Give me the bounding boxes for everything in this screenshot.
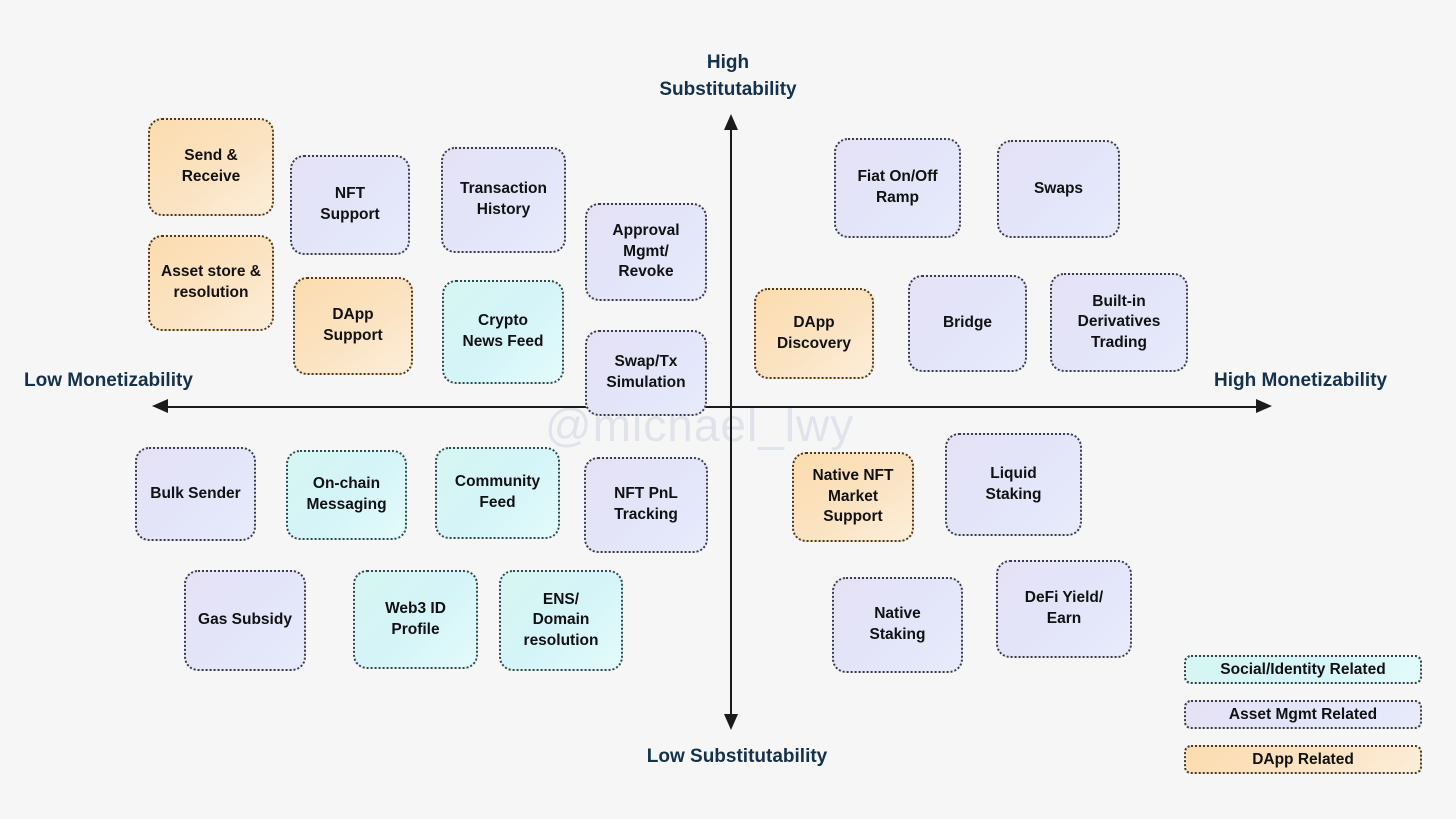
feature-card: Bridge: [908, 275, 1027, 372]
feature-card: Fiat On/Off Ramp: [834, 138, 961, 238]
feature-card: DApp Discovery: [754, 288, 874, 379]
feature-card: Native Staking: [832, 577, 963, 673]
legend: Social/Identity RelatedAsset Mgmt Relate…: [1184, 655, 1422, 774]
feature-card: Transaction History: [441, 147, 566, 253]
axis-label-bottom: Low Substitutability: [627, 744, 847, 771]
feature-card: DeFi Yield/ Earn: [996, 560, 1132, 658]
axis-label-right: High Monetizability: [1214, 368, 1434, 395]
feature-card: Liquid Staking: [945, 433, 1082, 536]
legend-item-dapp: DApp Related: [1184, 745, 1422, 774]
axis-arrow-right-icon: [1256, 399, 1272, 413]
feature-card: DApp Support: [293, 277, 413, 375]
vertical-axis: [730, 128, 732, 722]
feature-card: Approval Mgmt/ Revoke: [585, 203, 707, 301]
feature-card: Crypto News Feed: [442, 280, 564, 384]
horizontal-axis: [158, 406, 1264, 408]
legend-item-social: Social/Identity Related: [1184, 655, 1422, 684]
axis-label-left: Low Monetizability: [24, 368, 224, 395]
feature-card: Swap/Tx Simulation: [585, 330, 707, 416]
feature-card: Native NFT Market Support: [792, 452, 914, 542]
feature-card: Gas Subsidy: [184, 570, 306, 671]
feature-card: NFT Support: [290, 155, 410, 255]
feature-card: On-chain Messaging: [286, 450, 407, 540]
feature-card: Asset store & resolution: [148, 235, 274, 331]
axis-arrow-up-icon: [724, 114, 738, 130]
quadrant-chart-canvas: @michael_lwy High Substitutability Low S…: [0, 0, 1456, 819]
legend-item-asset: Asset Mgmt Related: [1184, 700, 1422, 729]
axis-arrow-down-icon: [724, 714, 738, 730]
feature-card: NFT PnL Tracking: [584, 457, 708, 553]
feature-card: Community Feed: [435, 447, 560, 539]
axis-label-top: High Substitutability: [618, 50, 838, 104]
feature-card: ENS/ Domain resolution: [499, 570, 623, 671]
feature-card: Send & Receive: [148, 118, 274, 216]
feature-card: Bulk Sender: [135, 447, 256, 541]
feature-card: Built-in Derivatives Trading: [1050, 273, 1188, 372]
axis-arrow-left-icon: [152, 399, 168, 413]
feature-card: Web3 ID Profile: [353, 570, 478, 669]
feature-card: Swaps: [997, 140, 1120, 238]
